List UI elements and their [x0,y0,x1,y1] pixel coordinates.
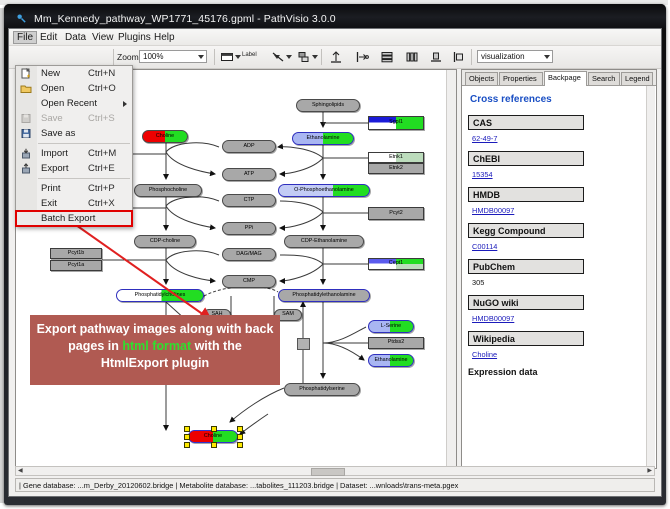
scroll-left-arrow-icon[interactable]: ◀ [18,468,23,474]
zoom-value: 100% [143,52,163,61]
file-menu-item-open[interactable]: Open Ctrl+O [16,81,132,96]
callout-highlight: html format [122,339,191,353]
stack-button[interactable] [380,50,394,64]
xref-header-cas: CAS [468,115,584,130]
toolbar-separator [471,49,472,65]
save-as-icon [20,128,32,139]
file-menu-label-new: New [41,68,60,79]
status-bar: | Gene database: ...m_Derby_20120602.bri… [15,478,655,492]
side-panel-scrollbar[interactable] [646,86,655,467]
visualization-value: visualization [481,52,525,61]
callout-line-1: Export pathway images along with back [34,321,276,338]
zoom-label: Zoom: [117,52,141,62]
status-bar-text: | Gene database: ...m_Derby_20120602.bri… [19,481,458,490]
chevron-down-icon[interactable] [286,55,292,59]
file-menu-label-exit: Exit [41,198,57,209]
callout-line-2-a: pages in [68,339,122,353]
main-horizontal-scrollbar[interactable]: ◀ ▶ [15,466,655,476]
resize-handle-e[interactable] [237,434,243,440]
chevron-down-icon[interactable] [312,55,318,59]
file-menu-label-print: Print [41,183,61,194]
chevron-down-icon[interactable] [235,55,241,59]
resize-handle-w[interactable] [184,434,190,440]
align-left-button[interactable] [355,50,369,64]
scroll-right-arrow-icon[interactable]: ▶ [647,468,652,474]
menu-edit[interactable]: Edit [36,31,61,44]
file-menu-separator [38,178,130,179]
file-menu-item-import[interactable]: Import Ctrl+M [16,146,132,161]
shape-button[interactable] [297,50,311,64]
open-folder-icon [20,83,32,94]
cross-references-heading: Cross references [470,94,646,105]
resize-handle-s[interactable] [211,442,217,448]
xref-link-chebi[interactable]: 15354 [472,170,646,179]
tab-search[interactable]: Search [588,72,620,85]
menu-bar: File Edit Data View Plugins Help [9,29,661,46]
pathvisio-icon [16,13,27,24]
common-height-button[interactable] [452,50,466,64]
distribute-button[interactable] [405,50,419,64]
tab-properties[interactable]: Properties [499,72,543,85]
file-menu-accel-exit: Ctrl+X [88,198,115,209]
node-sgpl1-label: Sgpl1 [389,120,403,125]
file-menu-accel-save: Ctrl+S [88,113,115,124]
file-menu-accel-print: Ctrl+P [88,183,115,194]
xref-link-nugo-wiki[interactable]: HMDB00097 [472,314,646,323]
file-menu-label-open: Open [41,83,64,94]
align-top-button[interactable] [329,50,343,64]
side-panel: Objects Properties Backpage Search Legen… [461,69,657,469]
file-menu-item-open-recent[interactable]: Open Recent [16,96,132,111]
callout-line-2-b: with the [191,339,242,353]
tab-backpage[interactable]: Backpage [544,71,587,86]
xref-header-pubchem: PubChem [468,259,584,274]
file-menu-item-batch-export[interactable]: Batch Export [16,211,132,226]
import-icon [20,148,32,159]
file-menu-item-new[interactable]: New Ctrl+N [16,66,132,81]
xref-link-hmdb[interactable]: HMDB00097 [472,206,646,215]
menu-plugins[interactable]: Plugins [114,31,155,44]
screenshot-root: Mm_Kennedy_pathway_WP1771_45176.gpml - P… [0,0,670,509]
export-icon [20,163,32,174]
xref-header-wikipedia: Wikipedia [468,331,584,346]
common-width-button[interactable] [429,50,443,64]
resize-handle-nw[interactable] [184,426,190,432]
toolbar-separator [214,49,215,65]
annotation-callout: Export pathway images along with back pa… [30,315,280,385]
datanode-button[interactable] [220,50,234,64]
file-menu-label-import: Import [41,148,68,159]
label-button[interactable]: Label [242,52,257,58]
file-menu-item-export[interactable]: Export Ctrl+E [16,161,132,176]
resize-handle-sw[interactable] [184,442,190,448]
menu-file[interactable]: File [13,31,37,44]
xref-link-wikipedia[interactable]: Choline [472,350,646,359]
scrollbar-thumb[interactable] [311,468,345,476]
tab-legend[interactable]: Legend [621,72,653,85]
xref-link-cas[interactable]: 62-49-7 [472,134,646,143]
file-menu-label-open-recent: Open Recent [41,98,97,109]
chevron-down-icon [544,55,550,59]
expression-data-heading: Expression data [468,367,646,377]
file-menu-dropdown[interactable]: New Ctrl+N Open Ctrl+O Open Recent Save … [15,65,133,227]
client-area: File Edit Data View Plugins Help Zoom: 1… [8,28,662,497]
resize-handle-ne[interactable] [237,426,243,432]
save-icon [20,113,32,124]
node-cept1-label: Cept1 [389,261,403,266]
xref-link-kegg-compound[interactable]: C00114 [472,242,646,251]
backpage-content: Cross references CAS 62-49-7 ChEBI 15354… [466,88,646,466]
file-menu-separator [38,143,130,144]
file-menu-item-print[interactable]: Print Ctrl+P [16,181,132,196]
selected-node-wrapper[interactable]: Choline [188,430,238,443]
file-menu-item-save: Save Ctrl+S [16,111,132,126]
new-file-icon [20,68,32,79]
callout-line-3: HtmlExport plugin [34,355,276,372]
file-menu-label-export: Export [41,163,68,174]
tab-objects[interactable]: Objects [465,72,498,85]
zoom-combo[interactable]: 100% [139,50,207,63]
file-menu-accel-new: Ctrl+N [88,68,115,79]
resize-handle-se[interactable] [237,442,243,448]
chevron-right-icon [123,101,127,107]
file-menu-label-batch-export: Batch Export [41,213,95,224]
file-menu-accel-open: Ctrl+O [88,83,116,94]
callout-line-2: pages in html format with the [34,338,276,355]
xref-value-pubchem: 305 [472,278,646,287]
line-button[interactable] [271,50,285,64]
menu-help[interactable]: Help [150,31,179,44]
file-menu-item-save-as[interactable]: Save as [16,126,132,141]
toolbar-separator [321,49,322,65]
xref-header-kegg-compound: Kegg Compound [468,223,584,238]
chevron-down-icon [198,55,204,59]
menu-data[interactable]: Data [61,31,90,44]
canvas-vertical-scrollbar[interactable] [446,70,456,470]
file-menu-accel-export: Ctrl+E [88,163,115,174]
xref-header-hmdb: HMDB [468,187,584,202]
resize-handle-n[interactable] [211,426,217,432]
side-panel-tabstrip: Objects Properties Backpage Search Legen… [462,70,656,86]
toolbar-separator [113,49,114,65]
file-menu-accel-import: Ctrl+M [88,148,116,159]
title-bar[interactable]: Mm_Kennedy_pathway_WP1771_45176.gpml - P… [4,4,666,28]
xref-header-chebi: ChEBI [468,151,584,166]
file-menu-item-exit[interactable]: Exit Ctrl+X [16,196,132,211]
file-menu-label-save-as: Save as [41,128,75,139]
visualization-combo[interactable]: visualization [477,50,553,63]
xref-header-nugo-wiki: NuGO wiki [468,295,584,310]
window-title: Mm_Kennedy_pathway_WP1771_45176.gpml - P… [34,13,336,25]
file-menu-label-save: Save [41,113,63,124]
